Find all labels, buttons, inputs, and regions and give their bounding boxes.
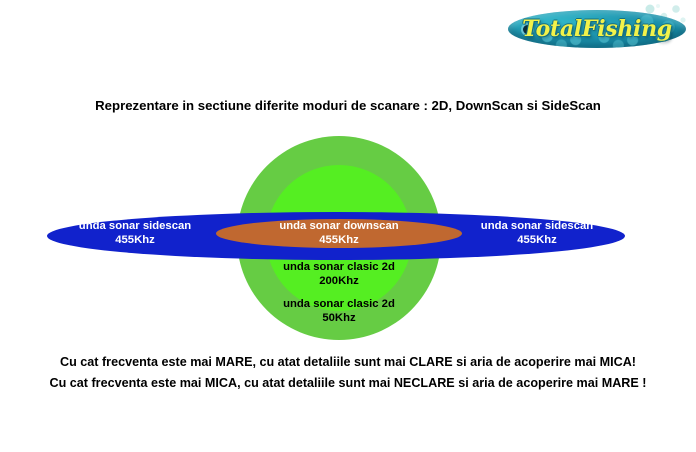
logo-brand-text: TotalFishing (508, 10, 686, 48)
label-classic-2d-50khz-line2: 50Khz (264, 311, 414, 325)
page-title: Reprezentare in sectiune diferite moduri… (0, 98, 696, 113)
label-classic-2d-50khz-line1: unda sonar clasic 2d (283, 298, 395, 310)
label-downscan-line2: 455Khz (243, 233, 435, 247)
total-fishing-logo: TotalFishing (500, 4, 686, 52)
label-sidescan-right-line2: 455Khz (462, 233, 612, 247)
label-sidescan-left: unda sonar sidescan 455Khz (60, 219, 210, 247)
footer-notes: Cu cat frecventa este mai MARE, cu atat … (0, 352, 696, 394)
label-downscan: unda sonar downscan 455Khz (243, 219, 435, 247)
label-classic-2d-200khz: unda sonar clasic 2d 200Khz (264, 260, 414, 288)
label-classic-2d-200khz-line1: unda sonar clasic 2d (283, 261, 395, 273)
footer-line-2: Cu cat frecventa este mai MICA, cu atat … (0, 373, 696, 394)
logo-lure-body: TotalFishing (508, 10, 686, 48)
sonar-coverage-diagram: unda sonar sidescan 455Khz unda sonar do… (0, 130, 696, 345)
label-classic-2d-200khz-line2: 200Khz (264, 274, 414, 288)
label-classic-2d-50khz: unda sonar clasic 2d 50Khz (264, 297, 414, 325)
label-sidescan-left-line2: 455Khz (60, 233, 210, 247)
label-sidescan-right-line1: unda sonar sidescan (481, 220, 593, 232)
label-sidescan-left-line1: unda sonar sidescan (79, 220, 191, 232)
label-downscan-line1: unda sonar downscan (279, 220, 398, 232)
label-sidescan-right: unda sonar sidescan 455Khz (462, 219, 612, 247)
diagram-canvas: TotalFishing Reprezentare in sectiune di… (0, 0, 696, 452)
footer-line-1: Cu cat frecventa este mai MARE, cu atat … (0, 352, 696, 373)
